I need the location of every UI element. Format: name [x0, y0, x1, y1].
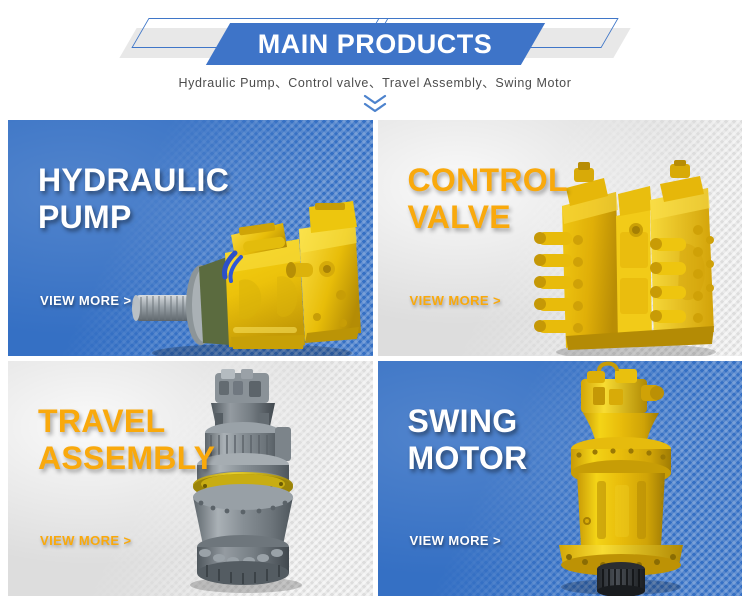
product-card-grid: HYDRAULIC PUMP VIEW MORE > — [8, 120, 742, 596]
page-title: MAIN PRODUCTS — [0, 23, 750, 65]
product-card-hydraulic-pump[interactable]: HYDRAULIC PUMP VIEW MORE > — [8, 120, 373, 356]
card-title: CONTROL VALVE — [408, 162, 568, 236]
card-text-block: CONTROL VALVE — [408, 162, 568, 236]
card-title: SWING MOTOR — [408, 403, 528, 477]
product-card-travel-assembly[interactable]: TRAVEL ASSEMBLY VIEW MORE > — [8, 361, 373, 597]
view-more-link[interactable]: VIEW MORE > — [410, 293, 501, 308]
product-card-control-valve[interactable]: CONTROL VALVE VIEW MORE > — [378, 120, 743, 356]
product-card-swing-motor[interactable]: SWING MOTOR VIEW MORE > — [378, 361, 743, 597]
card-text-block: HYDRAULIC PUMP — [38, 162, 229, 236]
page-header: MAIN PRODUCTS Hydraulic Pump、Control val… — [0, 0, 750, 118]
main-products-page: MAIN PRODUCTS Hydraulic Pump、Control val… — [0, 0, 750, 606]
view-more-link[interactable]: VIEW MORE > — [40, 293, 131, 308]
page-subtitle: Hydraulic Pump、Control valve、Travel Asse… — [0, 72, 750, 91]
scroll-hint — [0, 94, 750, 114]
banner-ribbon: MAIN PRODUCTS — [0, 18, 750, 66]
double-chevron-down-icon — [362, 94, 388, 114]
swing-motor-photo — [537, 361, 702, 596]
card-title: TRAVEL ASSEMBLY — [38, 403, 215, 477]
view-more-link[interactable]: VIEW MORE > — [410, 533, 501, 548]
view-more-link[interactable]: VIEW MORE > — [40, 533, 131, 548]
card-title: HYDRAULIC PUMP — [38, 162, 229, 236]
card-text-block: TRAVEL ASSEMBLY — [38, 403, 215, 477]
card-text-block: SWING MOTOR — [408, 403, 528, 477]
